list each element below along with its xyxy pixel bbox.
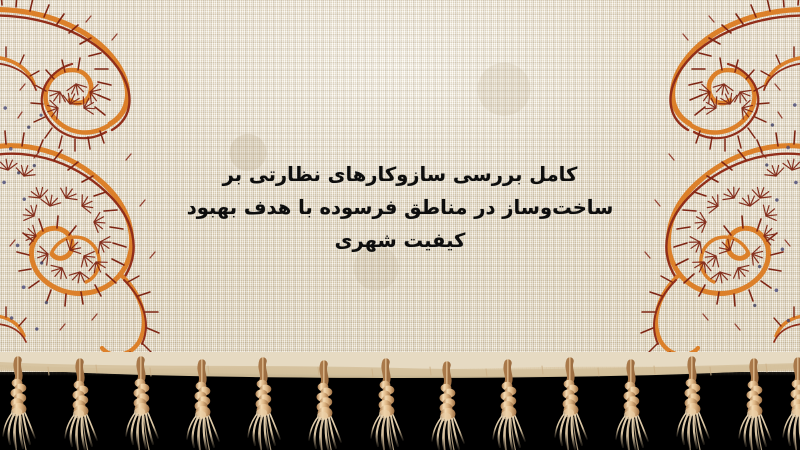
linen-weave-texture	[0, 0, 800, 372]
linen-weave-texture-coarse	[0, 0, 800, 372]
embroidery-navy-speckle-right-upper	[750, 90, 800, 215]
embroidery-navy-speckle-left-upper	[0, 96, 50, 216]
embroidery-navy-speckle-left-lower	[2, 230, 62, 340]
embroidery-motif-right	[550, 0, 800, 372]
embroidery-navy-speckle-right-lower	[738, 232, 798, 340]
embroidery-motif-left	[0, 0, 250, 372]
fabric-panel	[0, 0, 800, 372]
title-card-image: کامل بررسی سازوکارهای نظارتی بر ساخت‌وسا…	[0, 0, 800, 450]
fabric-aging-stains	[0, 0, 800, 372]
fabric-edge-fuzz	[0, 360, 800, 376]
